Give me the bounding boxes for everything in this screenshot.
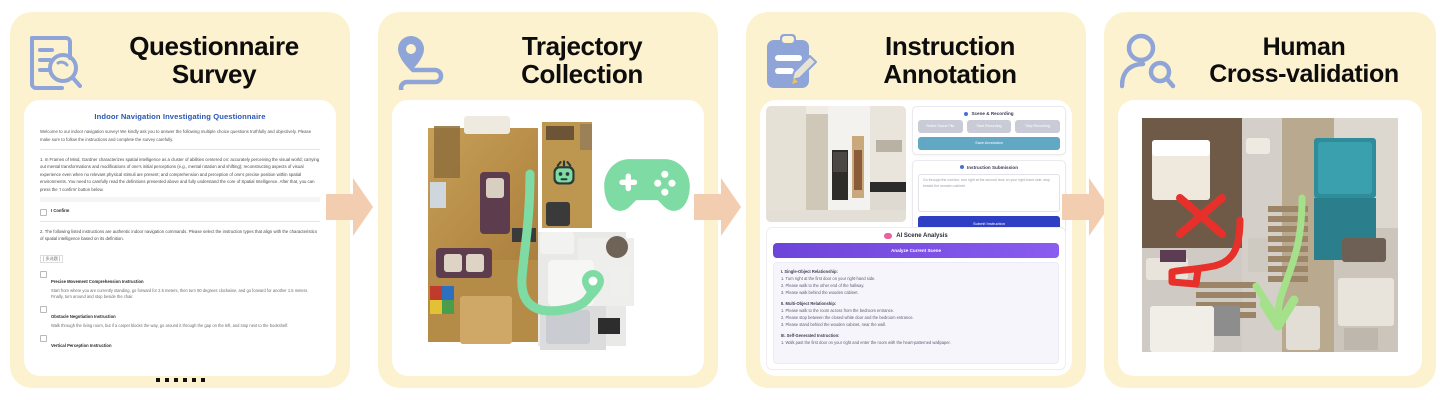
ai-output-line: 1. Walk past the first door on your righ… [781, 339, 1051, 346]
divider [40, 221, 320, 222]
option-title: Precise Movement Comprehension Instructi… [51, 279, 144, 284]
instruction-submission-label: Instruction Submission [967, 165, 1018, 170]
robot-avatar-marker [550, 160, 578, 188]
ai-output-line: 2. Please walk to the other end of the h… [781, 282, 1051, 289]
stage-1-title-line2: Survey [92, 61, 336, 89]
list-item[interactable]: Obstacle Negotiation Instruction Walk th… [40, 305, 320, 330]
stage-4-title: Human Cross-validation [1186, 34, 1422, 88]
instruction-textarea[interactable]: Go through the corridor, turn right at t… [918, 174, 1060, 212]
ai-output-line: 1. Please walk to the room across from t… [781, 307, 1051, 314]
ai-output-line: 2. Please stop between the closed white … [781, 314, 1051, 321]
flow-arrow-2-icon [694, 176, 742, 238]
question-1-highlight [40, 197, 320, 202]
ai-panel-title: AI Scene Analysis [773, 233, 1059, 239]
stage-2-title: Trajectory Collection [460, 33, 704, 89]
document-search-icon [24, 30, 84, 92]
stage-4-header: Human Cross-validation [1118, 22, 1422, 100]
survey-heading: Indoor Navigation Investigating Question… [40, 112, 320, 121]
flow-arrow-1-icon [326, 176, 374, 238]
analyze-current-scene-button[interactable]: Analyze Current Scene [773, 243, 1059, 258]
map-pin-path-icon [392, 30, 452, 92]
ai-output-text: I. Single-Object Relationship: 1. Turn r… [773, 262, 1059, 364]
survey-question-1: 1. In Frames of Mind, Gardner characteri… [40, 156, 320, 193]
annotation-top-row: Scene & Recording Select Scene File Star… [766, 106, 1066, 222]
pencil-icon [960, 165, 964, 169]
stage-4-title-line2: Cross-validation [1186, 61, 1422, 88]
stage-3-title-line1: Instruction [828, 33, 1072, 61]
save-annotation-button[interactable]: Save Annotation [918, 137, 1060, 150]
brain-icon [884, 233, 892, 239]
stage-3-screenshot: Scene & Recording Select Scene File Star… [760, 100, 1072, 376]
confirm-checkbox[interactable] [40, 209, 47, 216]
select-scene-file-button[interactable]: Select Scene File [918, 120, 963, 133]
stop-recording-button[interactable]: Stop Recording [1015, 120, 1060, 133]
gamepad-icon [604, 152, 690, 218]
stage-1-screenshot: Indoor Navigation Investigating Question… [24, 100, 336, 376]
ellipsis-indicator [10, 378, 350, 382]
start-recording-button[interactable]: Start Recording [967, 120, 1012, 133]
confirm-label: I Confirm [51, 208, 69, 214]
annotation-tool: Scene & Recording Select Scene File Star… [760, 100, 1072, 376]
option-checkbox[interactable] [40, 306, 47, 313]
ai-output-heading-1: I. Single-Object Relationship: [781, 268, 1051, 275]
instruction-submission-card: Instruction Submission Go through the co… [912, 160, 1066, 236]
person-search-icon [1118, 30, 1178, 92]
survey-intro: Welcome to our indoor navigation survey!… [40, 128, 320, 143]
stage-human-cross-validation: Human Cross-validation [1104, 12, 1436, 388]
floorplan-container [392, 100, 704, 376]
stage-questionnaire-survey: Questionnaire Survey Indoor Navigation I… [10, 12, 350, 388]
stage-trajectory-collection: Trajectory Collection [378, 12, 718, 388]
ai-output-line: 3. Please walk behind the wooden cabinet… [781, 289, 1051, 296]
stage-2-title-line2: Collection [460, 61, 704, 89]
pipeline-diagram: Questionnaire Survey Indoor Navigation I… [0, 0, 1446, 400]
question-2-required-tag: [ 多选题 ] [40, 255, 63, 263]
stage-2-header: Trajectory Collection [392, 22, 704, 100]
stage-1-title: Questionnaire Survey [92, 33, 336, 89]
stage-3-header: Instruction Annotation [760, 22, 1072, 100]
validation-floorplan [1136, 110, 1404, 360]
stage-4-screenshot [1118, 100, 1422, 376]
questionnaire-document: Indoor Navigation Investigating Question… [30, 102, 330, 348]
ai-output-line: 1. Turn right at the first door on your … [781, 275, 1051, 282]
option-checkbox[interactable] [40, 271, 47, 278]
option-desc: Start from where you are currently stand… [51, 288, 320, 301]
recording-button-row: Select Scene File Start Recording Stop R… [918, 120, 1060, 133]
confirm-checkbox-row[interactable]: I Confirm [40, 208, 320, 216]
stage-2-screenshot [392, 100, 704, 376]
list-item[interactable]: Precise Movement Comprehension Instructi… [40, 270, 320, 301]
list-item[interactable]: Vertical Perception Instruction Please g… [40, 334, 320, 348]
scene-recording-card: Scene & Recording Select Scene File Star… [912, 106, 1066, 155]
validation-container [1118, 100, 1422, 376]
stage-1-header: Questionnaire Survey [24, 22, 336, 100]
stage-3-title-line2: Annotation [828, 61, 1072, 89]
instruction-submission-title: Instruction Submission [918, 165, 1060, 170]
stage-4-title-line1: Human [1186, 34, 1422, 61]
option-title: Obstacle Negotiation Instruction [51, 314, 116, 319]
option-title: Vertical Perception Instruction [51, 343, 112, 348]
ai-output-heading-2: II. Multi-Object Relationship: [781, 300, 1051, 307]
ai-output-heading-3: III. Self-Generated Instruction: [781, 332, 1051, 339]
scene-recording-label: Scene & Recording [971, 111, 1013, 116]
ai-output-line: 3. Please stand behind the wooden cabine… [781, 321, 1051, 328]
survey-question-2: 2. The following listed instructions are… [40, 228, 320, 243]
ai-scene-analysis-panel: AI Scene Analysis Analyze Current Scene … [766, 227, 1066, 370]
top-down-floorplan [420, 110, 650, 355]
clipboard-pencil-icon [760, 30, 820, 92]
scene-recording-title: Scene & Recording [918, 111, 1060, 116]
stage-instruction-annotation: Instruction Annotation [746, 12, 1086, 388]
option-checkbox[interactable] [40, 335, 47, 342]
divider [40, 149, 320, 150]
stage-3-title: Instruction Annotation [828, 33, 1072, 89]
stage-2-title-line1: Trajectory [460, 33, 704, 61]
annotation-controls: Scene & Recording Select Scene File Star… [912, 106, 1066, 222]
flow-arrow-3-icon [1062, 176, 1110, 238]
record-icon [964, 112, 968, 116]
option-desc: Walk through the living room, but if a c… [51, 323, 288, 330]
ai-panel-title-label: AI Scene Analysis [896, 233, 947, 239]
stage-1-title-line1: Questionnaire [92, 33, 336, 61]
scene-photo [766, 106, 906, 222]
